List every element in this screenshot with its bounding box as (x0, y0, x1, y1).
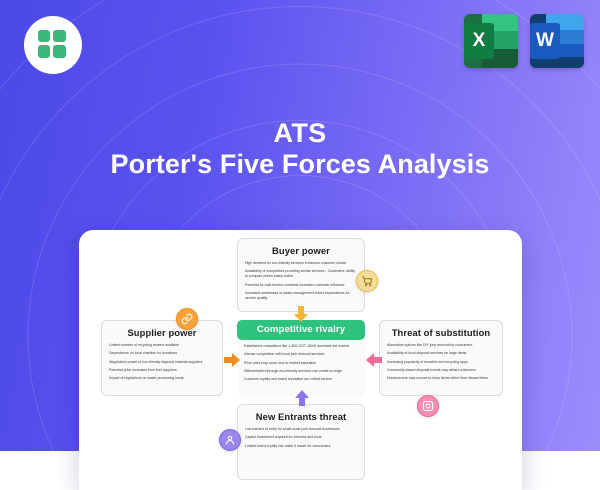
arrow-right-supplier-to-rivalry-icon (224, 351, 240, 369)
force-box-items: High demand for eco-friendly services en… (245, 261, 357, 301)
excel-icon-letter: X (464, 23, 494, 59)
list-item: Customer loyalty and brand reputation ar… (244, 377, 358, 382)
list-item: High demand for eco-friendly services en… (245, 261, 357, 266)
force-box-items: Low barriers to entry for small-scale ju… (245, 427, 357, 449)
force-box-competitive-rivalry[interactable]: Competitive rivalry Established competit… (237, 320, 365, 396)
refresh-badge-icon[interactable] (417, 395, 439, 417)
arrow-down-buyer-to-rivalry-icon (292, 306, 310, 322)
force-box-supplier-power[interactable]: Supplier power Limited number of recycli… (101, 320, 223, 396)
list-item: Capital investment required for vehicles… (245, 435, 357, 440)
list-item: Potential price increases from fuel supp… (109, 368, 215, 373)
diagram-canvas: Buyer power High demand for eco-friendly… (79, 230, 522, 490)
list-item: Low barriers to entry for small-scale ju… (245, 427, 357, 432)
list-item: Homeowners may choose to keep items rath… (387, 376, 495, 381)
list-item: Dependence on local charities for donati… (109, 351, 215, 356)
list-item: Availability of competitors providing si… (245, 269, 357, 279)
word-icon[interactable]: W (530, 14, 584, 68)
force-box-new-entrants-threat[interactable]: New Entrants threat Low barriers to entr… (237, 404, 365, 480)
office-icons-group: X W (464, 14, 584, 68)
list-item: Price wars may occur due to market satur… (244, 361, 358, 366)
force-box-items: Established competitors like 1-800-GOT-J… (237, 344, 365, 382)
link-badge-icon[interactable] (176, 308, 198, 330)
word-icon-letter: W (530, 23, 560, 59)
list-item: Differentiation through eco-friendly ser… (244, 369, 358, 374)
list-item: Intense competition with local junk remo… (244, 352, 358, 357)
force-box-items: Alternative options like DIY junk remova… (387, 343, 495, 381)
user-badge-icon[interactable] (219, 429, 241, 451)
force-box-items: Limited number of recycling centers avai… (109, 343, 215, 381)
force-box-title: Buyer power (245, 245, 357, 256)
list-item: Availability of local disposal services … (387, 351, 495, 356)
list-item: Established competitors like 1-800-GOT-J… (244, 344, 358, 349)
list-item: Limited number of recycling centers avai… (109, 343, 215, 348)
arrow-up-new-entrants-to-rivalry-icon (293, 390, 311, 406)
force-box-title: Threat of substitution (387, 327, 495, 338)
force-box-title: New Entrants threat (245, 411, 357, 422)
page-title: ATS (0, 118, 600, 148)
force-box-title: Supplier power (109, 327, 215, 338)
list-item: Increased awareness of waste management … (245, 291, 357, 301)
list-item: Negotiation power of eco-friendly dispos… (109, 360, 215, 365)
page-subtitle: Porter's Five Forces Analysis (0, 148, 600, 182)
grid-blocks-logo-icon (38, 30, 68, 60)
arrow-left-substitution-to-rivalry-icon (366, 351, 382, 369)
list-item: Limited brand loyalty can make it easier… (245, 444, 357, 449)
force-box-title: Competitive rivalry (237, 320, 365, 340)
cart-badge-icon[interactable] (356, 270, 378, 292)
force-box-threat-of-substitution[interactable]: Threat of substitution Alternative optio… (379, 320, 503, 396)
excel-icon[interactable]: X (464, 14, 518, 68)
diagram-card: Buyer power High demand for eco-friendly… (79, 230, 522, 490)
app-logo[interactable] (24, 16, 82, 74)
list-item: Community-based disposal events may attr… (387, 368, 495, 373)
list-item: Alternative options like DIY junk remova… (387, 343, 495, 348)
list-item: Impact of regulations on waste processin… (109, 376, 215, 381)
list-item: Potential for bulk service contracts inc… (245, 283, 357, 288)
force-box-buyer-power[interactable]: Buyer power High demand for eco-friendly… (237, 238, 365, 312)
hero-titles: ATS Porter's Five Forces Analysis (0, 118, 600, 182)
list-item: Increasing popularity of donation and re… (387, 360, 495, 365)
